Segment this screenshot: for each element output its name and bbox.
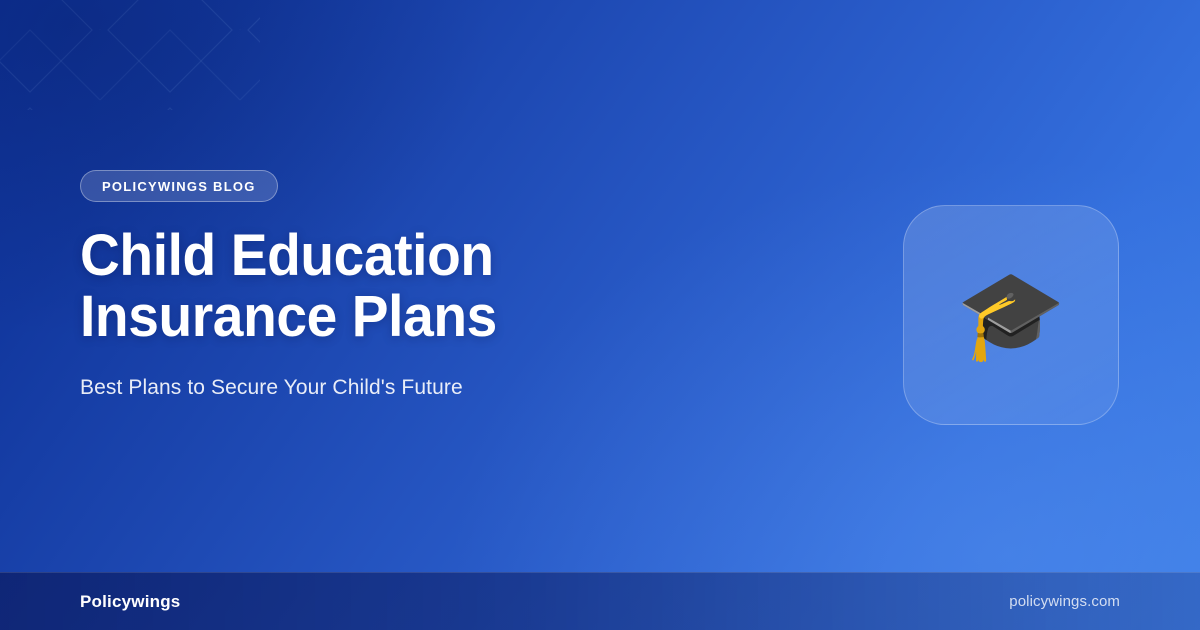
category-badge[interactable]: POLICYWINGS BLOG [80,170,278,202]
footer-brand: Policywings [80,592,180,612]
banner-footer: Policywings policywings.com [0,572,1200,630]
banner-content: POLICYWINGS BLOG Child Education Insuran… [80,0,880,572]
footer-website[interactable]: policywings.com [1009,593,1120,610]
icon-card: 🎓 [903,205,1119,425]
graduation-cap-icon: 🎓 [956,271,1066,359]
page-title: Child Education Insurance Plans [80,226,726,348]
blog-banner: POLICYWINGS BLOG Child Education Insuran… [0,0,1200,630]
subtitle: Best Plans to Secure Your Child's Future [80,374,880,401]
